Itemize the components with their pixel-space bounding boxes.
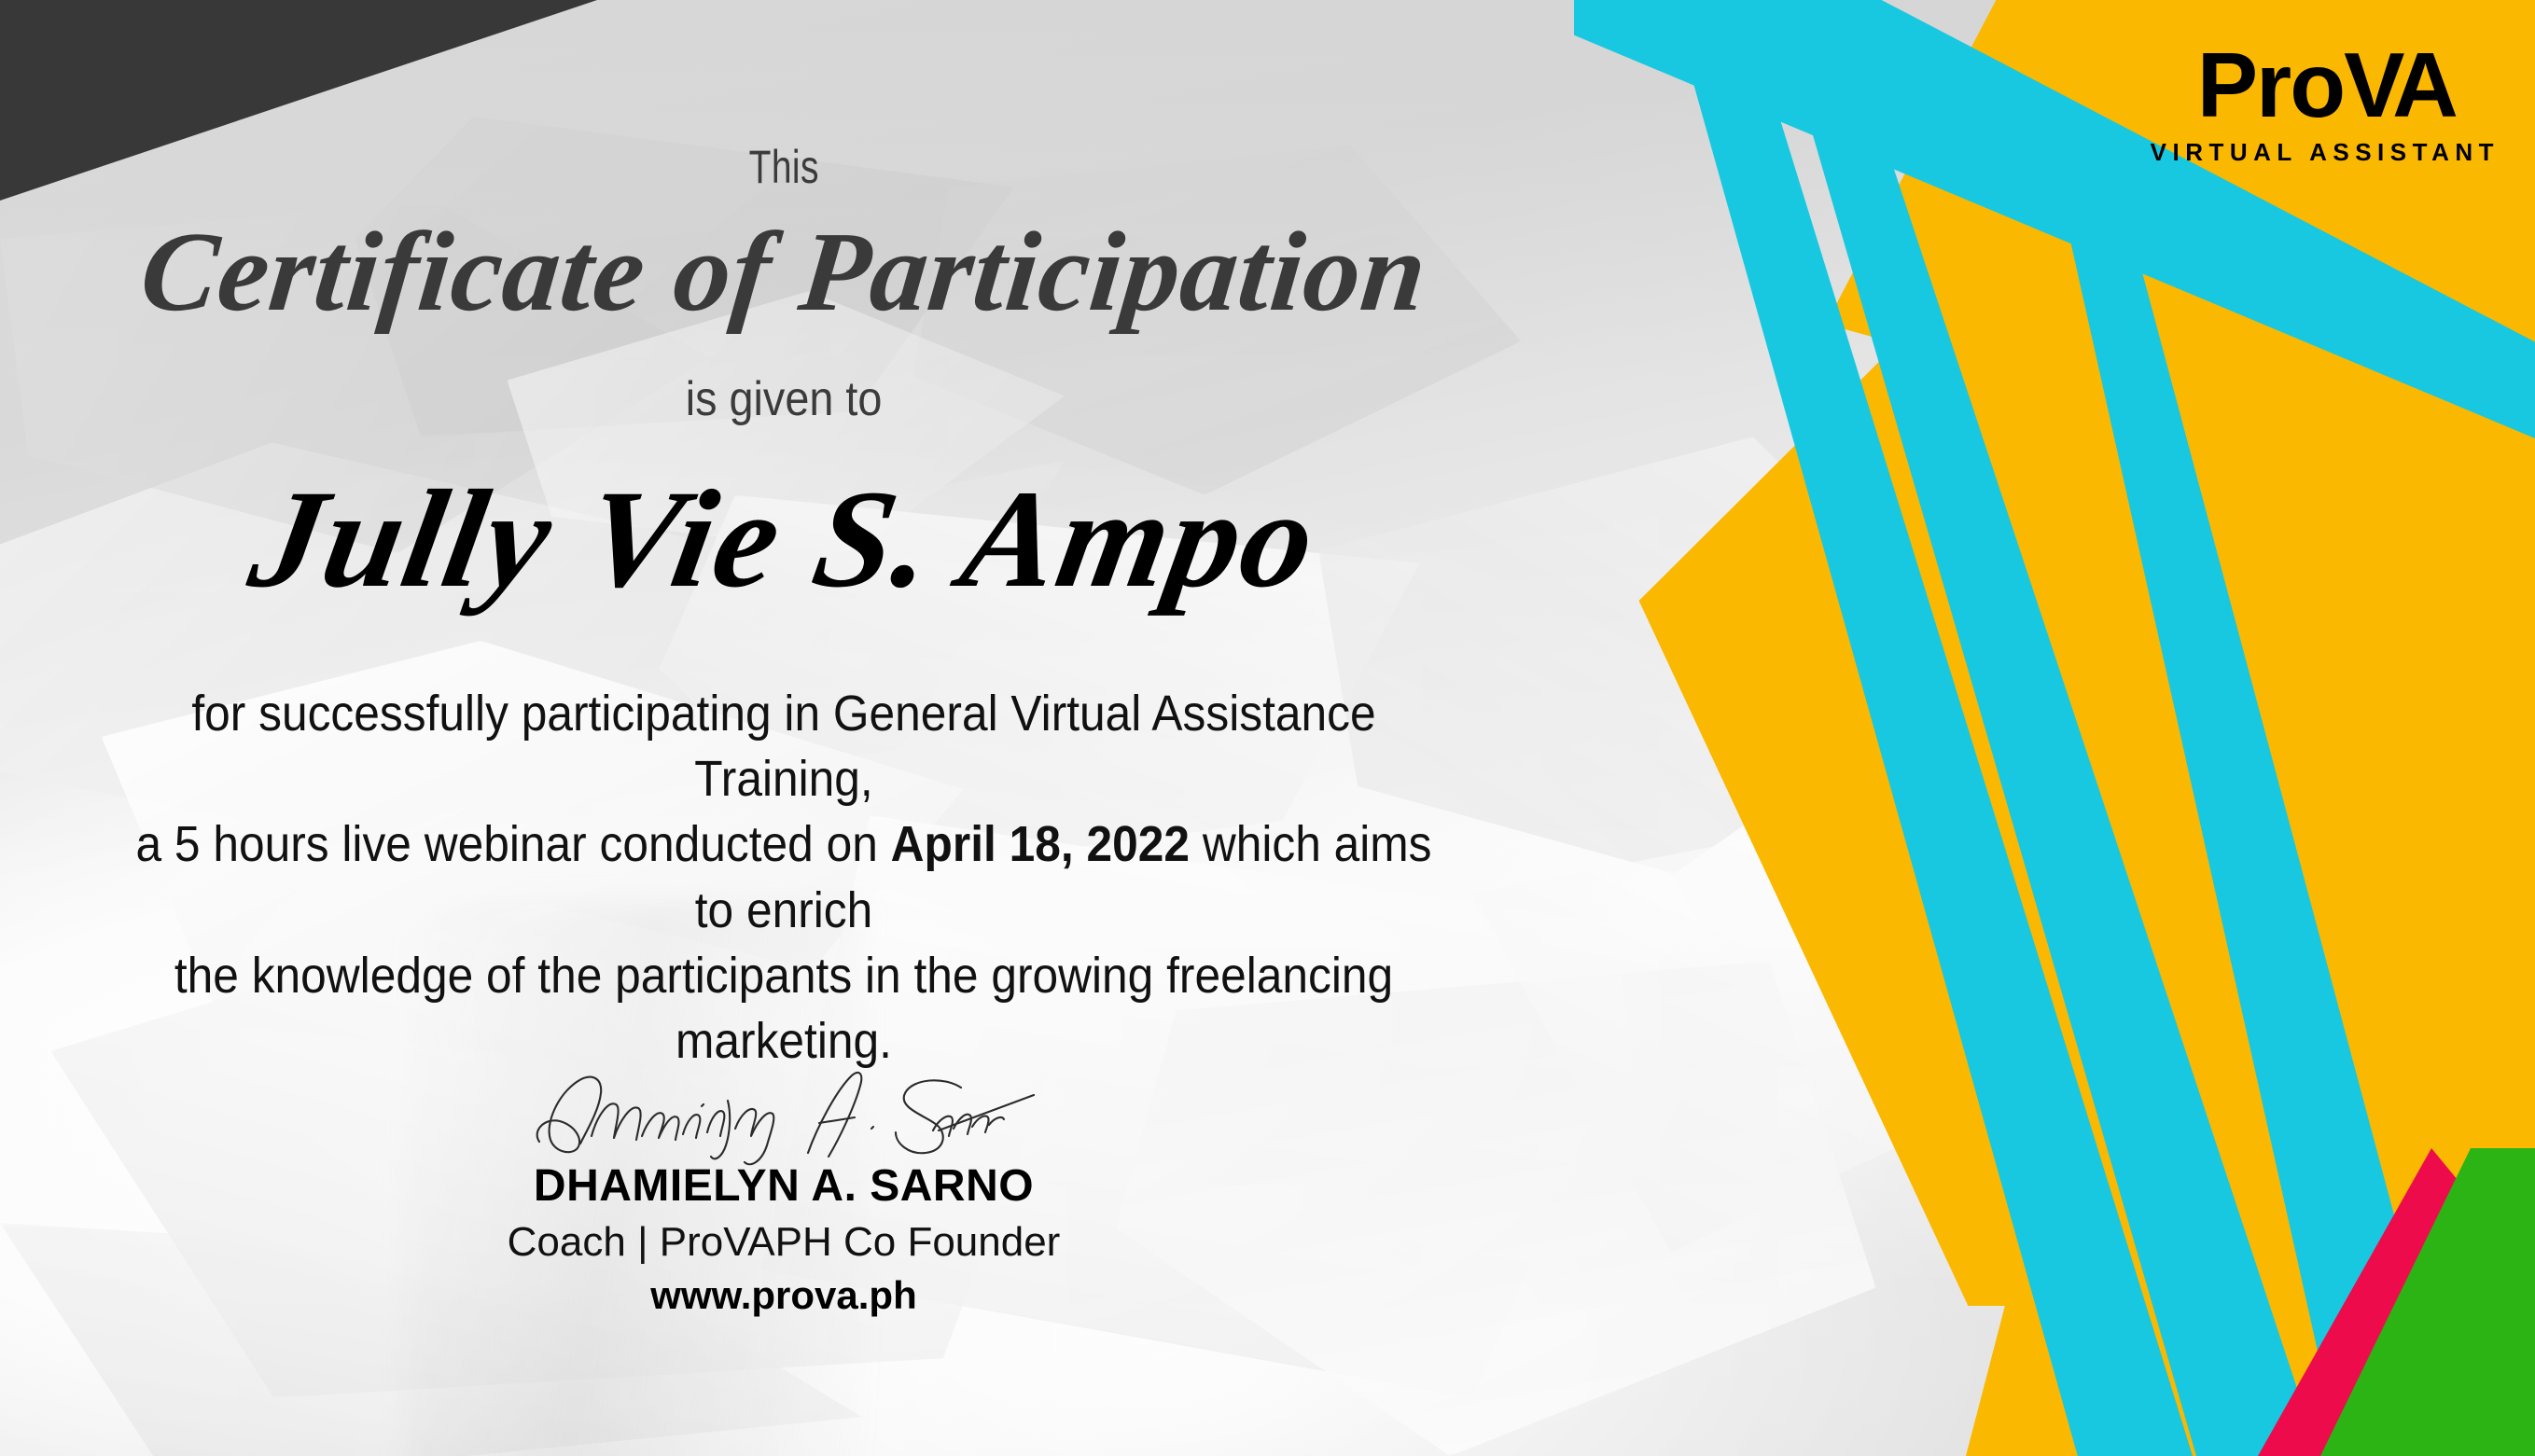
given-to-label: is given to bbox=[686, 371, 883, 427]
signatory-name: DHAMIELYN A. SARNO bbox=[0, 1160, 1567, 1212]
signature-block: DHAMIELYN A. SARNO Coach | ProVAPH Co Fo… bbox=[0, 1063, 1567, 1318]
body-line-2-before: a 5 hours live webinar conducted on bbox=[135, 816, 890, 872]
signatory-role: Coach | ProVAPH Co Founder bbox=[0, 1219, 1567, 1266]
event-date: April 18, 2022 bbox=[891, 816, 1190, 872]
logo-wordmark: ProVA bbox=[2151, 39, 2500, 131]
prova-logo: ProVA VIRTUAL ASSISTANT bbox=[2151, 39, 2500, 164]
certificate-title: Certificate of Participation bbox=[134, 207, 1432, 338]
body-line-3: the knowledge of the participants in the… bbox=[174, 948, 1393, 1069]
eyebrow-text: This bbox=[748, 140, 818, 194]
certificate-canvas: ProVA VIRTUAL ASSISTANT This Certificate… bbox=[0, 0, 2535, 1456]
recipient-name: Jully Vie S. Ampo bbox=[239, 459, 1328, 619]
handwritten-signature-icon bbox=[522, 1063, 1045, 1166]
logo-wordmark-pro: Pro bbox=[2197, 34, 2344, 136]
logo-wordmark-va: VA bbox=[2344, 34, 2453, 136]
logo-tagline: VIRTUAL ASSISTANT bbox=[2151, 140, 2500, 164]
certificate-body: for successfully participating in Genera… bbox=[114, 681, 1453, 1074]
body-line-1: for successfully participating in Genera… bbox=[191, 686, 1375, 807]
website-url[interactable]: www.prova.ph bbox=[0, 1273, 1567, 1318]
